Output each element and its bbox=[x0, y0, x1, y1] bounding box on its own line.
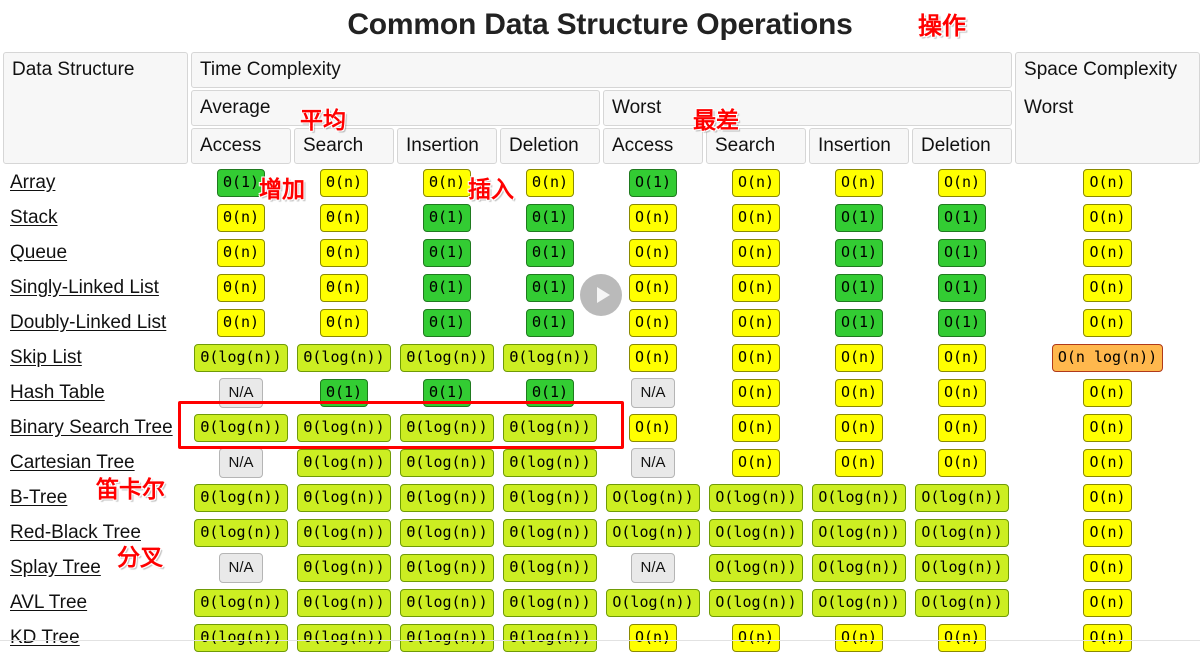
row-label-text[interactable]: Queue bbox=[10, 242, 67, 263]
row-label-kd-tree[interactable]: KD Tree bbox=[3, 621, 188, 654]
complexity-badge: Θ(1) bbox=[526, 309, 574, 337]
complexity-badge: O(log(n)) bbox=[709, 484, 802, 512]
row-label-text[interactable]: Doubly-Linked List bbox=[10, 312, 166, 333]
table-row: Splay TreeN/AΘ(log(n))Θ(log(n))Θ(log(n))… bbox=[3, 551, 1200, 584]
cell-worst-deletion: O(n) bbox=[912, 621, 1012, 654]
header-avg-search[interactable]: Search bbox=[294, 128, 394, 164]
cell-worst-deletion: O(1) bbox=[912, 201, 1012, 234]
complexity-badge: O(1) bbox=[835, 204, 883, 232]
complexity-badge: Θ(log(n)) bbox=[400, 484, 493, 512]
cell-space-worst: O(n) bbox=[1015, 551, 1200, 584]
complexity-badge: N/A bbox=[631, 448, 674, 478]
cell-avg-access: Θ(log(n)) bbox=[191, 411, 291, 444]
play-triangle-icon bbox=[597, 287, 610, 303]
complexity-badge: Θ(1) bbox=[423, 204, 471, 232]
cell-avg-insertion: Θ(log(n)) bbox=[397, 586, 497, 619]
complexity-badge: N/A bbox=[219, 378, 262, 408]
cell-avg-insertion: Θ(log(n)) bbox=[397, 481, 497, 514]
complexity-badge: O(n) bbox=[835, 379, 883, 407]
row-label-text[interactable]: Splay Tree bbox=[10, 557, 101, 578]
cell-avg-search: Θ(n) bbox=[294, 201, 394, 234]
cell-worst-deletion: O(n) bbox=[912, 166, 1012, 199]
header-space-complexity: Space ComplexityWorst bbox=[1015, 52, 1200, 164]
cell-worst-access: N/A bbox=[603, 446, 703, 479]
cell-avg-deletion: Θ(log(n)) bbox=[500, 411, 600, 444]
cell-avg-search: Θ(log(n)) bbox=[294, 481, 394, 514]
cell-avg-insertion: Θ(1) bbox=[397, 236, 497, 269]
cell-avg-access: N/A bbox=[191, 376, 291, 409]
complexity-badge: Θ(1) bbox=[423, 309, 471, 337]
complexity-badge: Θ(log(n)) bbox=[400, 344, 493, 372]
complexity-badge: O(log(n)) bbox=[709, 519, 802, 547]
complexity-badge: O(n) bbox=[732, 414, 780, 442]
complexity-badge: Θ(1) bbox=[423, 379, 471, 407]
complexity-badge: Θ(log(n)) bbox=[297, 589, 390, 617]
complexity-badge: Θ(log(n)) bbox=[297, 484, 390, 512]
cell-avg-deletion: Θ(log(n)) bbox=[500, 621, 600, 654]
row-label-binary-search-tree[interactable]: Binary Search Tree bbox=[3, 411, 188, 444]
cell-worst-search: O(n) bbox=[706, 166, 806, 199]
cell-avg-search: Θ(n) bbox=[294, 271, 394, 304]
cell-worst-search: O(n) bbox=[706, 201, 806, 234]
cell-worst-search: O(n) bbox=[706, 341, 806, 374]
cell-avg-access: Θ(n) bbox=[191, 271, 291, 304]
table-row: QueueΘ(n)Θ(n)Θ(1)Θ(1)O(n)O(n)O(1)O(1)O(n… bbox=[3, 236, 1200, 269]
header-space-worst: Worst bbox=[1024, 97, 1191, 119]
complexity-badge: Θ(log(n)) bbox=[503, 589, 596, 617]
complexity-badge: N/A bbox=[631, 378, 674, 408]
cell-avg-search: Θ(n) bbox=[294, 236, 394, 269]
cell-avg-search: Θ(log(n)) bbox=[294, 551, 394, 584]
complexity-badge: N/A bbox=[219, 448, 262, 478]
row-label-text[interactable]: Hash Table bbox=[10, 382, 105, 403]
complexity-badge: O(n) bbox=[835, 449, 883, 477]
cell-worst-access: O(n) bbox=[603, 621, 703, 654]
cell-worst-deletion: O(n) bbox=[912, 376, 1012, 409]
complexity-badge: Θ(1) bbox=[526, 379, 574, 407]
cell-worst-insertion: O(1) bbox=[809, 201, 909, 234]
complexity-badge: O(n) bbox=[835, 344, 883, 372]
cell-avg-access: Θ(log(n)) bbox=[191, 586, 291, 619]
cell-worst-insertion: O(n) bbox=[809, 341, 909, 374]
cell-worst-deletion: O(log(n)) bbox=[912, 551, 1012, 584]
complexity-badge: O(n) bbox=[629, 344, 677, 372]
complexity-badge: Θ(log(n)) bbox=[400, 589, 493, 617]
cell-avg-access: Θ(n) bbox=[191, 306, 291, 339]
cell-worst-insertion: O(log(n)) bbox=[809, 551, 909, 584]
cell-worst-insertion: O(n) bbox=[809, 411, 909, 444]
cell-avg-insertion: Θ(log(n)) bbox=[397, 621, 497, 654]
complexity-badge: O(n) bbox=[629, 414, 677, 442]
cell-space-worst: O(n) bbox=[1015, 236, 1200, 269]
cell-avg-insertion: Θ(1) bbox=[397, 306, 497, 339]
cell-space-worst: O(n) bbox=[1015, 271, 1200, 304]
cell-worst-access: O(log(n)) bbox=[603, 481, 703, 514]
complexity-badge: Θ(n) bbox=[423, 169, 471, 197]
row-label-red-black-tree[interactable]: Red-Black Tree bbox=[3, 516, 188, 549]
complexity-badge: Θ(log(n)) bbox=[194, 624, 287, 652]
cell-worst-insertion: O(n) bbox=[809, 166, 909, 199]
cell-worst-access: O(n) bbox=[603, 306, 703, 339]
header-row-groups: Data Structure Time Complexity Space Com… bbox=[3, 52, 1200, 88]
complexity-badge: O(n) bbox=[1083, 519, 1131, 547]
complexity-badge: Θ(log(n)) bbox=[194, 519, 287, 547]
complexity-badge: O(n) bbox=[1083, 624, 1131, 652]
table-row: Cartesian TreeN/AΘ(log(n))Θ(log(n))Θ(log… bbox=[3, 446, 1200, 479]
cell-avg-deletion: Θ(log(n)) bbox=[500, 341, 600, 374]
row-label-text[interactable]: Singly-Linked List bbox=[10, 277, 159, 298]
cell-space-worst: O(n) bbox=[1015, 306, 1200, 339]
complexity-badge: Θ(1) bbox=[526, 204, 574, 232]
complexity-badge: Θ(log(n)) bbox=[503, 554, 596, 582]
row-label-singly-linked-list[interactable]: Singly-Linked List bbox=[3, 271, 188, 304]
cell-avg-deletion: Θ(n) bbox=[500, 166, 600, 199]
complexity-badge: O(1) bbox=[938, 204, 986, 232]
table-row: Skip ListΘ(log(n))Θ(log(n))Θ(log(n))Θ(lo… bbox=[3, 341, 1200, 374]
complexity-badge: O(n) bbox=[835, 169, 883, 197]
complexity-badge: O(log(n)) bbox=[606, 589, 699, 617]
row-label-doubly-linked-list[interactable]: Doubly-Linked List bbox=[3, 306, 188, 339]
complexity-badge: Θ(n) bbox=[526, 169, 574, 197]
complexity-badge: Θ(n) bbox=[320, 274, 368, 302]
cell-worst-access: O(log(n)) bbox=[603, 516, 703, 549]
cell-worst-search: O(log(n)) bbox=[706, 551, 806, 584]
complexity-badge: O(n) bbox=[835, 624, 883, 652]
complexity-badge: Θ(log(n)) bbox=[503, 414, 596, 442]
header-time-complexity: Time Complexity bbox=[191, 52, 1012, 88]
cell-space-worst: O(n) bbox=[1015, 621, 1200, 654]
cell-avg-search: Θ(log(n)) bbox=[294, 621, 394, 654]
cell-avg-search: Θ(log(n)) bbox=[294, 411, 394, 444]
cell-avg-deletion: Θ(log(n)) bbox=[500, 551, 600, 584]
row-label-avl-tree[interactable]: AVL Tree bbox=[3, 586, 188, 619]
complexity-badge: Θ(log(n)) bbox=[297, 519, 390, 547]
complexity-badge: O(n) bbox=[1083, 379, 1131, 407]
complexity-badge: O(n) bbox=[938, 449, 986, 477]
cell-space-worst: O(n) bbox=[1015, 446, 1200, 479]
complexity-badge: O(n) bbox=[1083, 204, 1131, 232]
header-worst-search[interactable]: Search bbox=[706, 128, 806, 164]
table-head: Data Structure Time Complexity Space Com… bbox=[3, 52, 1200, 164]
cell-worst-search: O(n) bbox=[706, 411, 806, 444]
complexity-badge: Θ(log(n)) bbox=[297, 449, 390, 477]
cell-worst-deletion: O(log(n)) bbox=[912, 481, 1012, 514]
complexity-badge: Θ(n) bbox=[320, 204, 368, 232]
complexity-badge: O(log(n)) bbox=[812, 484, 905, 512]
cell-worst-search: O(log(n)) bbox=[706, 516, 806, 549]
complexity-badge: O(1) bbox=[938, 309, 986, 337]
complexity-badge: O(n) bbox=[1083, 239, 1131, 267]
header-data-structure: Data Structure bbox=[3, 52, 188, 164]
cell-avg-access: Θ(log(n)) bbox=[191, 621, 291, 654]
cell-avg-insertion: Θ(1) bbox=[397, 376, 497, 409]
cell-avg-insertion: Θ(log(n)) bbox=[397, 551, 497, 584]
complexity-badge: O(log(n)) bbox=[915, 484, 1008, 512]
complexity-badge: N/A bbox=[631, 553, 674, 583]
complexity-badge: O(log(n)) bbox=[915, 519, 1008, 547]
cell-avg-access: Θ(log(n)) bbox=[191, 516, 291, 549]
header-avg-insertion[interactable]: Insertion bbox=[397, 128, 497, 164]
title-bar: Common Data Structure Operations 操作 bbox=[0, 0, 1200, 50]
cell-avg-insertion: Θ(log(n)) bbox=[397, 516, 497, 549]
row-label-stack[interactable]: Stack bbox=[3, 201, 188, 234]
cell-worst-deletion: O(1) bbox=[912, 271, 1012, 304]
header-avg-deletion[interactable]: Deletion bbox=[500, 128, 600, 164]
cell-worst-access: N/A bbox=[603, 376, 703, 409]
complexity-badge: O(log(n)) bbox=[812, 554, 905, 582]
complexity-table-wrapper: Data Structure Time Complexity Space Com… bbox=[0, 50, 1200, 656]
cell-worst-deletion: O(n) bbox=[912, 411, 1012, 444]
cell-avg-insertion: Θ(log(n)) bbox=[397, 411, 497, 444]
complexity-badge: O(n) bbox=[629, 239, 677, 267]
complexity-badge: O(1) bbox=[835, 309, 883, 337]
cell-worst-search: O(log(n)) bbox=[706, 586, 806, 619]
cell-worst-access: O(n) bbox=[603, 411, 703, 444]
cell-space-worst: O(n log(n)) bbox=[1015, 341, 1200, 374]
complexity-badge: Θ(n) bbox=[217, 309, 265, 337]
header-avg-access[interactable]: Access bbox=[191, 128, 291, 164]
complexity-badge: Θ(1) bbox=[526, 274, 574, 302]
cell-space-worst: O(n) bbox=[1015, 201, 1200, 234]
complexity-badge: O(log(n)) bbox=[709, 554, 802, 582]
complexity-badge: Θ(1) bbox=[320, 379, 368, 407]
cell-avg-insertion: Θ(1) bbox=[397, 271, 497, 304]
cell-avg-insertion: Θ(1) bbox=[397, 201, 497, 234]
complexity-badge: O(n) bbox=[629, 624, 677, 652]
complexity-badge: O(1) bbox=[629, 169, 677, 197]
row-label-array[interactable]: Array bbox=[3, 166, 188, 199]
cell-avg-deletion: Θ(log(n)) bbox=[500, 586, 600, 619]
cell-avg-search: Θ(n) bbox=[294, 306, 394, 339]
row-label-text[interactable]: Cartesian Tree bbox=[10, 452, 135, 473]
complexity-badge: O(n) bbox=[732, 204, 780, 232]
row-label-text[interactable]: AVL Tree bbox=[10, 592, 87, 613]
complexity-badge: Θ(n) bbox=[217, 239, 265, 267]
complexity-badge: Θ(n) bbox=[320, 309, 368, 337]
complexity-badge: Θ(n) bbox=[320, 239, 368, 267]
complexity-badge: O(n) bbox=[1083, 484, 1131, 512]
complexity-badge: O(n) bbox=[629, 204, 677, 232]
complexity-badge: O(n) bbox=[629, 309, 677, 337]
page-title: Common Data Structure Operations bbox=[347, 8, 852, 42]
cell-avg-access: Θ(log(n)) bbox=[191, 481, 291, 514]
table-row: ArrayΘ(1)Θ(n)Θ(n)Θ(n)O(1)O(n)O(n)O(n)O(n… bbox=[3, 166, 1200, 199]
complexity-badge: Θ(log(n)) bbox=[400, 554, 493, 582]
row-label-cartesian-tree[interactable]: Cartesian Tree bbox=[3, 446, 188, 479]
cell-avg-search: Θ(log(n)) bbox=[294, 586, 394, 619]
complexity-badge: O(n) bbox=[938, 414, 986, 442]
header-worst: Worst bbox=[603, 90, 1012, 126]
cell-avg-access: N/A bbox=[191, 446, 291, 479]
cell-worst-insertion: O(1) bbox=[809, 271, 909, 304]
cell-avg-search: Θ(1) bbox=[294, 376, 394, 409]
cell-worst-deletion: O(log(n)) bbox=[912, 586, 1012, 619]
cell-avg-deletion: Θ(log(n)) bbox=[500, 446, 600, 479]
bottom-divider bbox=[0, 640, 1200, 641]
complexity-badge: O(n) bbox=[938, 344, 986, 372]
complexity-badge: O(n) bbox=[938, 624, 986, 652]
row-label-text[interactable]: Red-Black Tree bbox=[10, 522, 141, 543]
complexity-badge: O(n) bbox=[732, 309, 780, 337]
complexity-badge: O(n) bbox=[629, 274, 677, 302]
cell-avg-deletion: Θ(log(n)) bbox=[500, 516, 600, 549]
cell-worst-access: O(n) bbox=[603, 341, 703, 374]
cell-worst-deletion: O(log(n)) bbox=[912, 516, 1012, 549]
cell-worst-insertion: O(1) bbox=[809, 236, 909, 269]
cell-worst-access: O(log(n)) bbox=[603, 586, 703, 619]
complexity-badge: Θ(log(n)) bbox=[297, 554, 390, 582]
complexity-badge: O(1) bbox=[938, 239, 986, 267]
complexity-badge: O(n) bbox=[1083, 554, 1131, 582]
complexity-badge: Θ(log(n)) bbox=[503, 519, 596, 547]
complexity-badge: O(log(n)) bbox=[606, 484, 699, 512]
complexity-badge: Θ(log(n)) bbox=[400, 519, 493, 547]
cell-avg-search: Θ(log(n)) bbox=[294, 446, 394, 479]
cell-worst-deletion: O(1) bbox=[912, 236, 1012, 269]
complexity-badge: Θ(n) bbox=[217, 204, 265, 232]
table-row: Red-Black TreeΘ(log(n))Θ(log(n))Θ(log(n)… bbox=[3, 516, 1200, 549]
cell-worst-insertion: O(1) bbox=[809, 306, 909, 339]
row-label-splay-tree[interactable]: Splay Tree bbox=[3, 551, 188, 584]
complexity-badge: Θ(log(n)) bbox=[400, 624, 493, 652]
complexity-badge: O(log(n)) bbox=[812, 589, 905, 617]
cell-avg-access: Θ(n) bbox=[191, 236, 291, 269]
complexity-badge: Θ(log(n)) bbox=[503, 344, 596, 372]
row-label-text[interactable]: KD Tree bbox=[10, 627, 80, 648]
complexity-badge: O(n) bbox=[732, 449, 780, 477]
cell-worst-deletion: O(1) bbox=[912, 306, 1012, 339]
cell-avg-search: Θ(log(n)) bbox=[294, 341, 394, 374]
cell-avg-deletion: Θ(1) bbox=[500, 376, 600, 409]
cell-avg-access: Θ(1) bbox=[191, 166, 291, 199]
cell-worst-access: O(n) bbox=[603, 201, 703, 234]
complexity-badge: O(1) bbox=[938, 274, 986, 302]
cell-avg-insertion: Θ(n) bbox=[397, 166, 497, 199]
cell-worst-access: O(n) bbox=[603, 236, 703, 269]
header-worst-deletion[interactable]: Deletion bbox=[912, 128, 1012, 164]
complexity-badge: Θ(log(n)) bbox=[297, 414, 390, 442]
complexity-badge: O(n) bbox=[732, 379, 780, 407]
cell-avg-deletion: Θ(1) bbox=[500, 201, 600, 234]
complexity-badge: O(1) bbox=[835, 239, 883, 267]
table-body: ArrayΘ(1)Θ(n)Θ(n)Θ(n)O(1)O(n)O(n)O(n)O(n… bbox=[3, 166, 1200, 654]
row-label-b-tree[interactable]: B-Tree bbox=[3, 481, 188, 514]
table-row: Hash TableN/AΘ(1)Θ(1)Θ(1)N/AO(n)O(n)O(n)… bbox=[3, 376, 1200, 409]
cell-worst-search: O(n) bbox=[706, 376, 806, 409]
complexity-badge: O(log(n)) bbox=[606, 519, 699, 547]
cell-avg-insertion: Θ(log(n)) bbox=[397, 341, 497, 374]
row-label-text[interactable]: B-Tree bbox=[10, 487, 67, 508]
table-row: B-TreeΘ(log(n))Θ(log(n))Θ(log(n))Θ(log(n… bbox=[3, 481, 1200, 514]
cell-avg-insertion: Θ(log(n)) bbox=[397, 446, 497, 479]
complexity-badge: O(n) bbox=[835, 414, 883, 442]
header-average: Average bbox=[191, 90, 600, 126]
complexity-badge: Θ(log(n)) bbox=[297, 344, 390, 372]
table-row: Binary Search TreeΘ(log(n))Θ(log(n))Θ(lo… bbox=[3, 411, 1200, 444]
cell-worst-insertion: O(log(n)) bbox=[809, 481, 909, 514]
complexity-badge: Θ(log(n)) bbox=[194, 414, 287, 442]
cell-avg-deletion: Θ(1) bbox=[500, 306, 600, 339]
table-row: StackΘ(n)Θ(n)Θ(1)Θ(1)O(n)O(n)O(1)O(1)O(n… bbox=[3, 201, 1200, 234]
complexity-badge: Θ(log(n)) bbox=[297, 624, 390, 652]
complexity-badge: O(n) bbox=[1083, 169, 1131, 197]
complexity-badge: Θ(1) bbox=[423, 239, 471, 267]
table-row: KD TreeΘ(log(n))Θ(log(n))Θ(log(n))Θ(log(… bbox=[3, 621, 1200, 654]
cell-worst-access: N/A bbox=[603, 551, 703, 584]
cell-worst-access: O(1) bbox=[603, 166, 703, 199]
play-button[interactable] bbox=[580, 274, 622, 316]
cell-avg-deletion: Θ(log(n)) bbox=[500, 481, 600, 514]
cell-worst-insertion: O(log(n)) bbox=[809, 516, 909, 549]
cell-worst-search: O(n) bbox=[706, 621, 806, 654]
row-label-text[interactable]: Binary Search Tree bbox=[10, 417, 173, 438]
cell-space-worst: O(n) bbox=[1015, 586, 1200, 619]
cell-avg-deletion: Θ(1) bbox=[500, 236, 600, 269]
cell-space-worst: O(n) bbox=[1015, 376, 1200, 409]
complexity-badge: O(n) bbox=[938, 379, 986, 407]
cell-worst-search: O(log(n)) bbox=[706, 481, 806, 514]
cell-avg-search: Θ(n) bbox=[294, 166, 394, 199]
complexity-badge: N/A bbox=[219, 553, 262, 583]
complexity-badge: O(n) bbox=[938, 169, 986, 197]
cell-avg-search: Θ(log(n)) bbox=[294, 516, 394, 549]
row-label-hash-table[interactable]: Hash Table bbox=[3, 376, 188, 409]
complexity-badge: O(1) bbox=[835, 274, 883, 302]
row-label-queue[interactable]: Queue bbox=[3, 236, 188, 269]
complexity-badge: O(n) bbox=[732, 239, 780, 267]
table-row: AVL TreeΘ(log(n))Θ(log(n))Θ(log(n))Θ(log… bbox=[3, 586, 1200, 619]
header-worst-access[interactable]: Access bbox=[603, 128, 703, 164]
complexity-table: Data Structure Time Complexity Space Com… bbox=[0, 50, 1200, 656]
complexity-badge: Θ(n) bbox=[217, 274, 265, 302]
complexity-badge: Θ(log(n)) bbox=[503, 449, 596, 477]
annotation-caozuo: 操作 bbox=[918, 6, 966, 41]
row-label-text[interactable]: Skip List bbox=[10, 347, 82, 368]
complexity-badge: Θ(1) bbox=[217, 169, 265, 197]
complexity-badge: Θ(log(n)) bbox=[194, 589, 287, 617]
complexity-badge: O(n) bbox=[1083, 414, 1131, 442]
row-label-skip-list[interactable]: Skip List bbox=[3, 341, 188, 374]
complexity-badge: Θ(log(n)) bbox=[194, 344, 287, 372]
cell-worst-deletion: O(n) bbox=[912, 341, 1012, 374]
complexity-badge: O(n) bbox=[732, 274, 780, 302]
cell-space-worst: O(n) bbox=[1015, 516, 1200, 549]
row-label-text[interactable]: Stack bbox=[10, 207, 58, 228]
complexity-badge: O(n) bbox=[732, 169, 780, 197]
cell-worst-insertion: O(n) bbox=[809, 446, 909, 479]
complexity-badge: Θ(log(n)) bbox=[503, 484, 596, 512]
row-label-text[interactable]: Array bbox=[10, 172, 55, 193]
complexity-badge: O(n log(n)) bbox=[1052, 344, 1163, 372]
cell-worst-search: O(n) bbox=[706, 271, 806, 304]
cell-worst-insertion: O(log(n)) bbox=[809, 586, 909, 619]
complexity-badge: Θ(1) bbox=[423, 274, 471, 302]
cell-avg-access: Θ(n) bbox=[191, 201, 291, 234]
cell-space-worst: O(n) bbox=[1015, 411, 1200, 444]
cell-worst-search: O(n) bbox=[706, 446, 806, 479]
complexity-badge: O(n) bbox=[732, 624, 780, 652]
complexity-badge: Θ(log(n)) bbox=[503, 624, 596, 652]
complexity-badge: O(log(n)) bbox=[915, 554, 1008, 582]
complexity-badge: Θ(n) bbox=[320, 169, 368, 197]
header-worst-insertion[interactable]: Insertion bbox=[809, 128, 909, 164]
complexity-badge: O(n) bbox=[1083, 589, 1131, 617]
complexity-badge: O(n) bbox=[1083, 449, 1131, 477]
cell-space-worst: O(n) bbox=[1015, 481, 1200, 514]
cell-worst-search: O(n) bbox=[706, 236, 806, 269]
cell-worst-search: O(n) bbox=[706, 306, 806, 339]
complexity-badge: O(log(n)) bbox=[812, 519, 905, 547]
